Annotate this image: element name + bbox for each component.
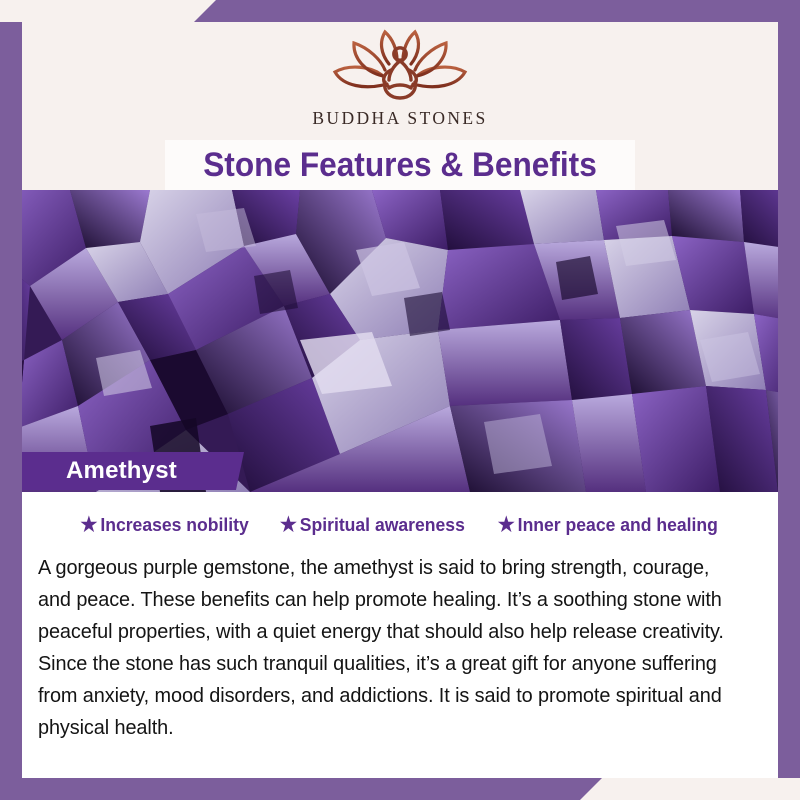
benefit-item-spiritual-awareness: ★ Spiritual awareness	[280, 514, 465, 536]
star-icon: ★	[81, 515, 98, 535]
frame-band-left	[0, 22, 22, 800]
content-panel: ★ Increases nobility ★ Spiritual awarene…	[22, 492, 778, 778]
benefits-list: ★ Increases nobility ★ Spiritual awarene…	[22, 492, 778, 536]
frame-band-bottom	[0, 778, 800, 800]
lotus-meditation-figure-icon	[325, 28, 475, 106]
frame-band-right	[778, 0, 800, 778]
star-icon: ★	[280, 515, 297, 535]
star-icon: ★	[498, 515, 515, 535]
amethyst-crystal-cluster-photo	[0, 190, 800, 492]
page-title: Stone Features & Benefits	[28, 140, 772, 190]
stone-name-label: Amethyst	[66, 457, 177, 485]
benefit-label: Increases nobility	[100, 514, 248, 536]
frame-band-top	[0, 0, 800, 22]
benefit-label: Inner peace and healing	[518, 514, 718, 536]
brand-wordmark: BUDDHA STONES	[312, 108, 487, 129]
stone-name-banner: Amethyst	[22, 452, 244, 490]
stone-description: A gorgeous purple gemstone, the amethyst…	[38, 552, 742, 744]
brand-header: BUDDHA STONES	[22, 22, 778, 144]
benefit-item-increases-nobility: ★ Increases nobility	[81, 514, 249, 536]
infographic-page: BUDDHA STONES Stone Features & Benefits	[0, 0, 800, 800]
benefit-label: Spiritual awareness	[300, 514, 465, 536]
benefit-item-inner-peace-and-healing: ★ Inner peace and healing	[498, 514, 718, 536]
